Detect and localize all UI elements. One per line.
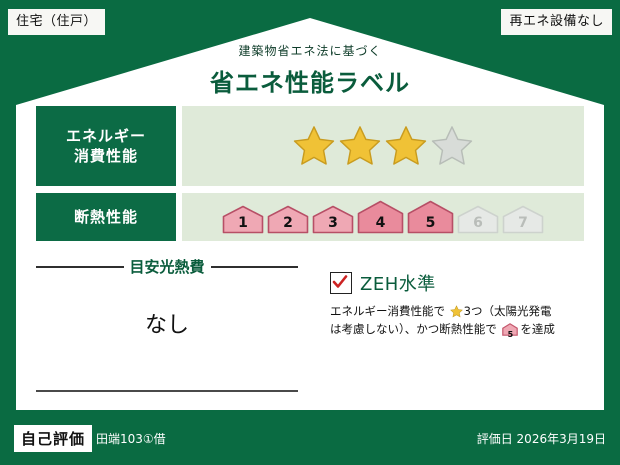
zeh-line1-text-a: エネルギー消費性能で <box>330 304 445 318</box>
rule-right <box>211 266 299 268</box>
energy-performance-row: エネルギー 消費性能 <box>36 106 584 186</box>
zeh-description-line2: は考慮しない）、かつ断熱性能で 5 を達成 <box>330 321 584 342</box>
zeh-description-line1: エネルギー消費性能で 3つ（太陽光発電 <box>330 303 584 321</box>
title-subtitle: 建築物省エネ法に基づく <box>16 42 604 59</box>
evaluation-target-name: 田端103①借 <box>96 430 166 447</box>
insulation-performance-label: 断熱性能 <box>36 193 176 241</box>
insulation-grade-number: 1 <box>222 215 264 231</box>
zeh-line1-text-b: 3つ（太陽光発電 <box>464 304 552 318</box>
insulation-grade-number: 5 <box>407 215 454 231</box>
insulation-grade-list: 1234567 <box>222 200 544 234</box>
insulation-performance-value: 1234567 <box>182 193 584 241</box>
page-title: 省エネ性能ラベル <box>16 63 604 98</box>
star-filled-icon <box>338 124 382 168</box>
zeh-checkbox[interactable] <box>330 272 352 294</box>
insulation-grade-number: 6 <box>457 215 499 231</box>
evaluation-type-badge: 自己評価 <box>14 425 92 452</box>
star-empty-icon <box>430 124 474 168</box>
star-filled-icon <box>384 124 428 168</box>
energy-performance-label: エネルギー 消費性能 <box>36 106 176 186</box>
zeh-line2-text-b: を達成 <box>520 322 555 336</box>
insulation-grade-number: 2 <box>267 215 309 231</box>
inline-grade-number: 5 <box>502 329 518 341</box>
house-panel: 建築物省エネ法に基づく 省エネ性能ラベル エネルギー 消費性能 断熱性能 <box>16 18 604 410</box>
insulation-grade-3: 3 <box>312 205 354 234</box>
insulation-performance-row: 断熱性能 1234567 <box>36 193 584 241</box>
rule-left <box>36 266 124 268</box>
footer-bar: 自己評価 田端103①借 評価日 2026年3月19日 <box>0 413 620 465</box>
star-rating <box>292 124 474 168</box>
insulation-grade-1: 1 <box>222 205 264 234</box>
insulation-grade-7: 7 <box>502 205 544 234</box>
star-icon <box>450 305 463 318</box>
zeh-title: ZEH水準 <box>360 270 436 296</box>
zeh-heading: ZEH水準 <box>330 270 584 296</box>
energy-performance-label: 住宅（住戸） 再エネ設備なし 建築物省エネ法に基づく 省エネ性能ラベル エネルギ… <box>0 0 620 465</box>
insulation-label-text: 断熱性能 <box>74 207 138 227</box>
insulation-grade-4: 4 <box>357 200 404 234</box>
insulation-grade-number: 4 <box>357 215 404 231</box>
energy-label-line2: 消費性能 <box>74 146 138 166</box>
utility-cost-section: 目安光熱費 なし <box>36 256 298 339</box>
renewable-equipment-badge: 再エネ設備なし <box>501 9 612 35</box>
lower-section: 目安光熱費 なし ZEH水準 <box>36 256 584 408</box>
insulation-grade-2: 2 <box>267 205 309 234</box>
energy-performance-value <box>182 106 584 186</box>
evaluation-date: 評価日 2026年3月19日 <box>477 430 606 447</box>
utility-cost-underline <box>36 390 298 392</box>
title-block: 建築物省エネ法に基づく 省エネ性能ラベル <box>16 42 604 98</box>
insulation-grade-number: 3 <box>312 215 354 231</box>
utility-cost-title: 目安光熱費 <box>130 256 205 277</box>
zeh-section: ZEH水準 エネルギー消費性能で 3つ（太陽光発電 は考慮しない）、かつ断熱性能… <box>330 270 584 342</box>
utility-cost-value: なし <box>36 307 298 339</box>
inline-grade-badge: 5 <box>502 323 518 342</box>
building-type-badge: 住宅（住戸） <box>8 9 105 35</box>
zeh-line2-text-a: は考慮しない）、かつ断熱性能で <box>330 322 497 336</box>
rating-rows: エネルギー 消費性能 断熱性能 1234567 <box>36 106 584 248</box>
insulation-grade-5: 5 <box>407 200 454 234</box>
star-filled-icon <box>292 124 336 168</box>
utility-cost-heading: 目安光熱費 <box>36 256 298 277</box>
insulation-grade-6: 6 <box>457 205 499 234</box>
energy-label-line1: エネルギー <box>66 126 146 146</box>
zeh-description: エネルギー消費性能で 3つ（太陽光発電 は考慮しない）、かつ断熱性能で <box>330 303 584 342</box>
insulation-grade-number: 7 <box>502 215 544 231</box>
check-icon <box>332 274 348 290</box>
